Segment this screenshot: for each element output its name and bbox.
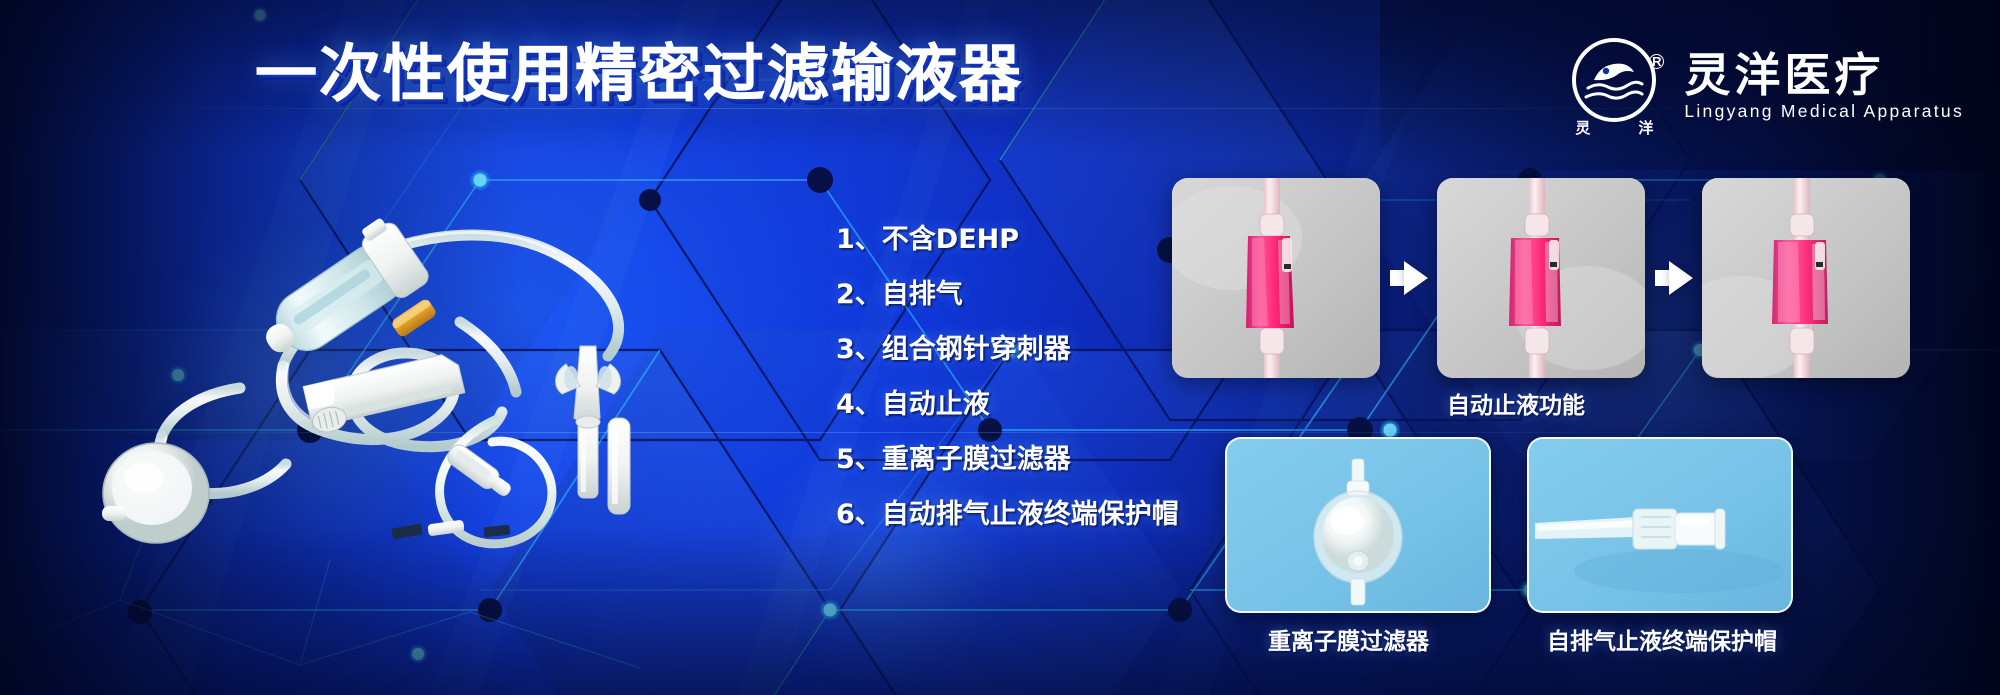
promotional-banner: 一次性使用精密过滤输液器 R 灵 洋 灵洋医疗 Lingyang Medical… [0,0,2000,695]
spike-cap-part [390,297,438,338]
needle-protector-part [608,418,630,514]
logo-mark-subtext: 灵 洋 [1566,121,1662,136]
product-card-filter-caption: 重离子膜过滤器 [1268,631,1429,654]
company-name-cn: 灵洋医疗 [1684,51,1964,100]
sequence-arrow-2-stem [1655,270,1669,286]
brand-name-block: 灵洋医疗 Lingyang Medical Apparatus [1684,51,1964,120]
main-product-image [40,150,720,560]
feature-item-3: 3、组合钢针穿刺器 [836,336,1179,363]
company-name-en: Lingyang Medical Apparatus [1684,103,1964,121]
sequence-arrow-1-stem [1390,270,1404,286]
product-card-cap-image [1527,437,1793,613]
product-card-filter-image [1225,437,1491,613]
inline-connector-part [444,441,515,501]
terminal-filter-part [102,443,209,543]
feature-list: 1、不含DEHP 2、自排气 3、组合钢针穿刺器 4、自动止液 5、重离子膜过滤… [836,226,1179,528]
logo-mark-char-left: 灵 [1575,121,1590,136]
logo-mark-char-right: 洋 [1638,121,1653,136]
sequence-arrow-2-icon [1669,261,1693,295]
registered-trademark-icon: R [1649,54,1664,69]
feature-item-5: 5、重离子膜过滤器 [836,446,1179,473]
demo-sequence-caption: 自动止液功能 [1447,395,1585,418]
auto-stop-frame-2 [1437,178,1645,378]
product-card-cap-caption: 自排气止液终端保护帽 [1547,631,1777,654]
feature-item-6: 6、自动排气止液终端保护帽 [836,501,1179,528]
feature-item-2: 2、自排气 [836,281,1179,308]
roller-clamp-part [303,352,466,436]
feature-item-4: 4、自动止液 [836,391,1179,418]
auto-stop-frame-3 [1702,178,1910,378]
brand-logo[interactable]: R 灵 洋 灵洋医疗 Lingyang Medical Apparatus [1566,38,1964,134]
sequence-arrow-1-icon [1404,261,1428,295]
auto-stop-frame-1 [1172,178,1380,378]
page-title: 一次性使用精密过滤输液器 [255,43,1023,105]
feature-item-1: 1、不含DEHP [836,226,1179,253]
logo-wave-icon [1572,38,1656,122]
logo-emblem-icon: R 灵 洋 [1566,38,1662,134]
